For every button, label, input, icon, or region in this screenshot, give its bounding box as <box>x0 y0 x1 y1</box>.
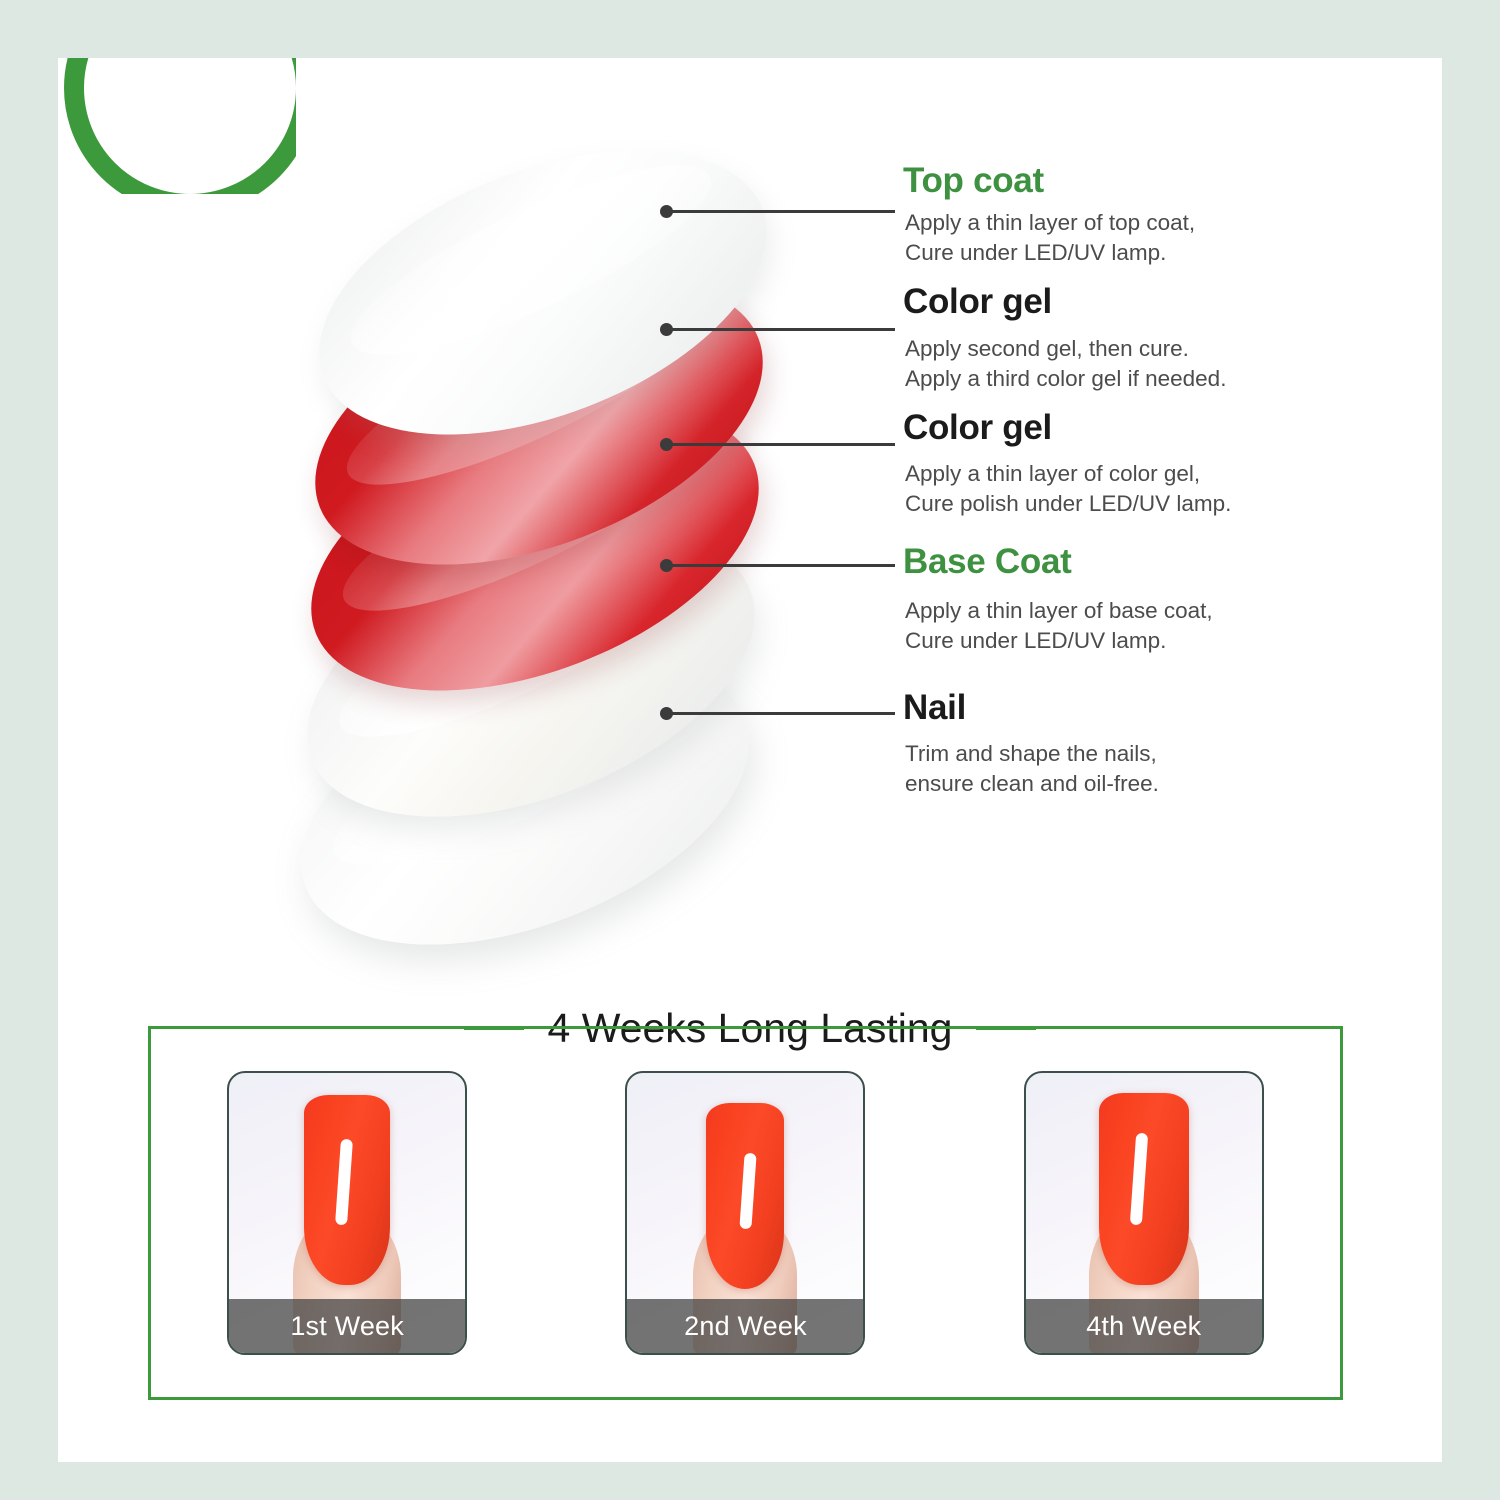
leader-line <box>670 210 895 213</box>
callout-line-1: Trim and shape the nails, <box>905 739 1157 769</box>
nail-layer-stack-illustration <box>208 108 908 1008</box>
nail-shine-highlight <box>1130 1133 1148 1226</box>
leader-line <box>670 712 895 715</box>
gloss-highlight <box>331 133 730 389</box>
nail-shine-highlight <box>335 1139 353 1226</box>
leader-line <box>670 564 895 567</box>
callout-line-1: Apply a thin layer of top coat, <box>905 208 1195 238</box>
photo-label: 2nd Week <box>627 1299 863 1353</box>
photo-card-week-4[interactable]: 4th Week <box>1024 1071 1264 1355</box>
leader-line <box>670 443 895 446</box>
longevity-photo-row: 1st Week 2nd Week 4th Week <box>148 1026 1343 1400</box>
callout-heading: Color gel <box>903 408 1052 448</box>
photo-card-week-2[interactable]: 2nd Week <box>625 1071 865 1355</box>
callout-heading: Nail <box>903 688 966 728</box>
photo-label: 1st Week <box>229 1299 465 1353</box>
nail-plate <box>304 1095 390 1285</box>
callout-line-2: Apply a third color gel if needed. <box>905 364 1226 394</box>
callout-line-2: Cure under LED/UV lamp. <box>905 626 1166 656</box>
callout-line-1: Apply a thin layer of base coat, <box>905 596 1213 626</box>
callout-heading: Color gel <box>903 282 1052 322</box>
nail-plate <box>1099 1093 1189 1285</box>
callout-line-2: Cure under LED/UV lamp. <box>905 238 1166 268</box>
poster-root: Top coat Apply a thin layer of top coat,… <box>0 0 1500 1500</box>
callout-line-1: Apply second gel, then cure. <box>905 334 1189 364</box>
nail-plate <box>706 1103 784 1289</box>
photo-label: 4th Week <box>1026 1299 1262 1353</box>
leader-line <box>670 328 895 331</box>
callout-heading: Base Coat <box>903 542 1071 582</box>
callout-line-2: Cure polish under LED/UV lamp. <box>905 489 1231 519</box>
callout-line-1: Apply a thin layer of color gel, <box>905 459 1200 489</box>
photo-card-week-1[interactable]: 1st Week <box>227 1071 467 1355</box>
nail-shine-highlight <box>740 1153 757 1230</box>
callout-line-2: ensure clean and oil-free. <box>905 769 1159 799</box>
callout-heading: Top coat <box>903 161 1044 201</box>
white-card: Top coat Apply a thin layer of top coat,… <box>58 58 1442 1462</box>
